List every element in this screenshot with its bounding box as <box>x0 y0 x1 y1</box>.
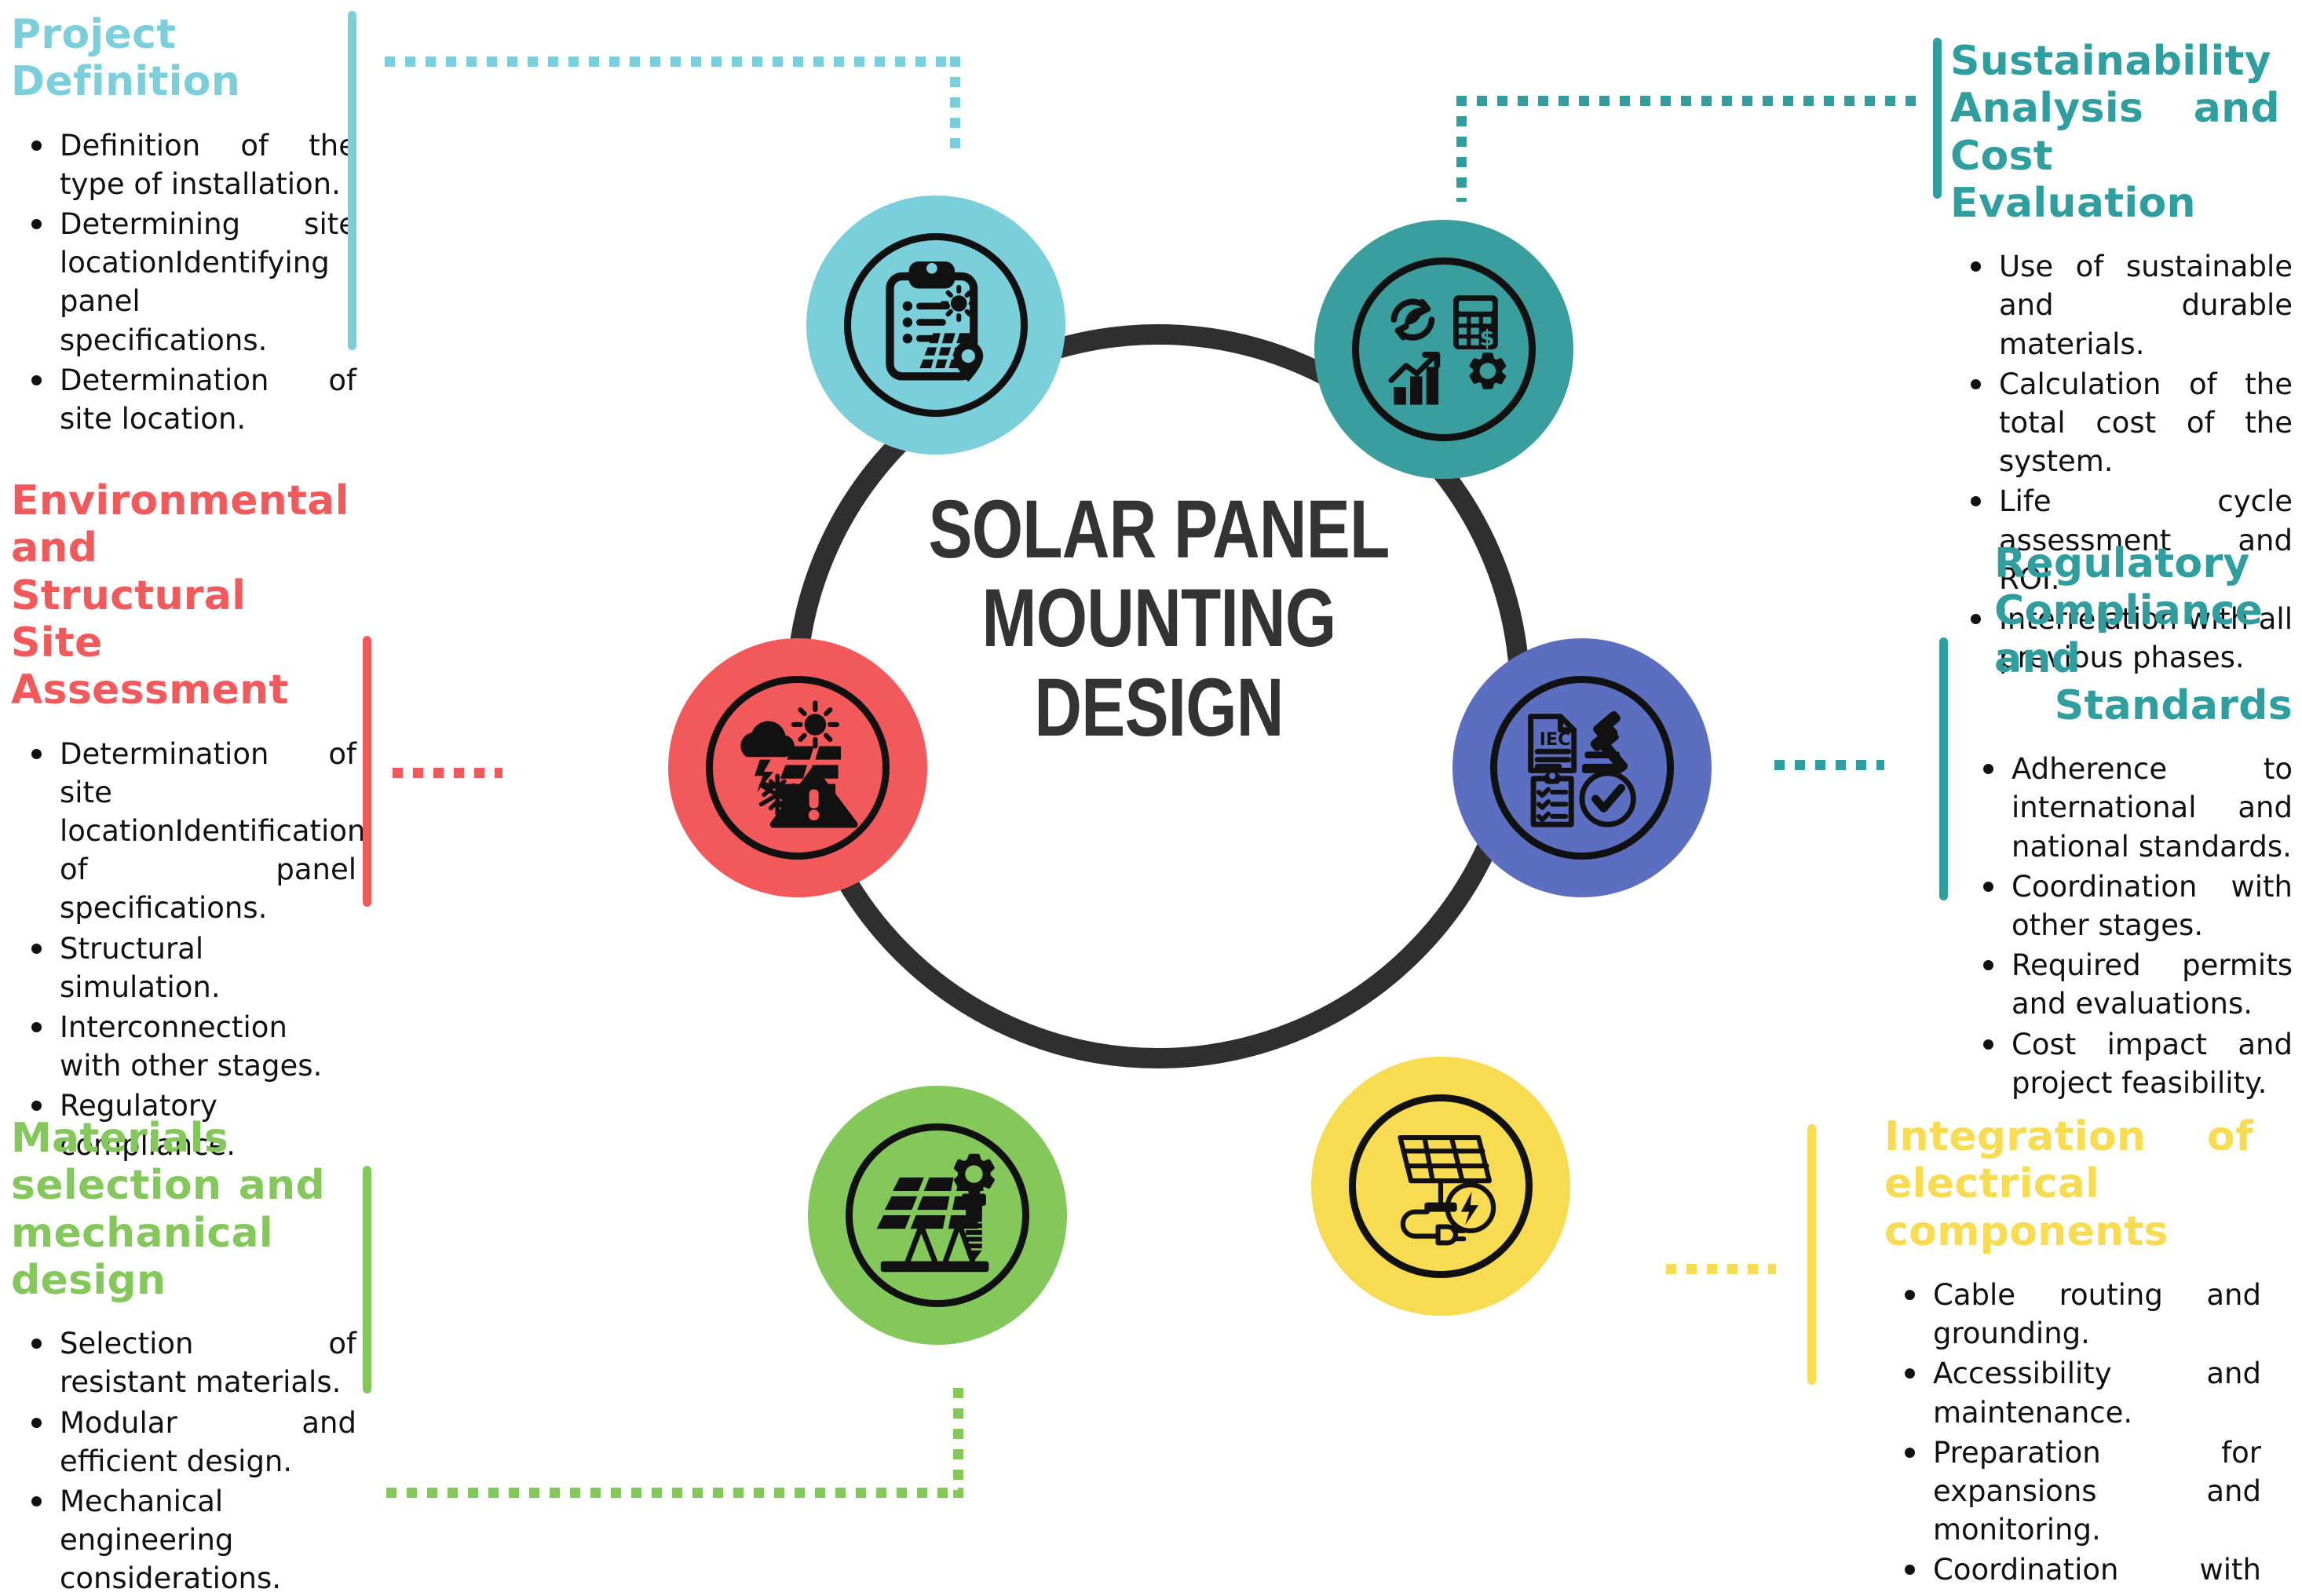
accent-bar-materials-mechanical <box>363 1166 371 1393</box>
list-item: Coordination with other stages. <box>1963 867 2293 944</box>
connector-materials-horizontal <box>386 1488 963 1498</box>
connector-sustainability-horizontal <box>1456 96 1921 106</box>
list-item: Modular and efficient design. <box>11 1404 356 1481</box>
svg-text:$: $ <box>1479 326 1494 351</box>
bullet-list-project-definition: Definition of the type of installation. … <box>11 126 356 439</box>
process-wheel: SOLAR PANEL MOUNTING DESIGN <box>664 203 1652 1190</box>
icon-ring <box>844 233 1028 417</box>
icon-ring <box>1349 1094 1533 1278</box>
list-item: Interconnection with other stages. <box>11 1008 356 1085</box>
list-item: Accessibility and maintenance. <box>1884 1354 2261 1431</box>
bullet-list-regulatory-compliance: Adherence to international and national … <box>1963 750 2293 1102</box>
icon-ring <box>706 676 890 860</box>
panel-title-regulatory-compliance: Regulatory Compliance and Standards <box>1994 540 2293 729</box>
list-item: Structural simulation. <box>11 929 356 1006</box>
connector-sustainability-vertical <box>1456 96 1467 202</box>
bullet-list-materials-mechanical: Selection of resistant materials. Modula… <box>11 1324 356 1596</box>
list-item: Mechanical engineering considerations. <box>11 1482 356 1596</box>
center-title-line2: MOUNTING <box>920 574 1398 663</box>
list-item: Determination of site locationIdentifica… <box>11 735 356 928</box>
panel-title-electrical-integration: Integration of electrical components <box>1884 1113 2253 1255</box>
panel-title-materials-mechanical: Materials selection and mechanical desig… <box>11 1115 325 1304</box>
icon-ring: $ <box>1352 257 1536 441</box>
weather-hazard-panel-icon <box>730 700 865 835</box>
panel-title-environmental-structural: Environmental and Structural Site Assess… <box>11 477 325 714</box>
list-item: Calculation of the total cost of the sys… <box>1950 365 2293 481</box>
list-item: Cable routing and grounding. <box>1884 1276 2261 1353</box>
panel-title-project-definition: Project Definition <box>11 11 207 106</box>
list-item: Adherence to international and national … <box>1963 750 2293 866</box>
node-project-definition[interactable] <box>806 195 1065 455</box>
icon-ring <box>846 1123 1029 1307</box>
bullet-list-electrical-integration: Cable routing and grounding. Accessibili… <box>1884 1276 2293 1596</box>
accent-bar-electrical-integration <box>1807 1124 1816 1385</box>
list-item: Use of sustainable and durable materials… <box>1950 247 2293 363</box>
solar-plug-bolt-icon <box>1373 1119 1508 1254</box>
list-item: Determination of site location. <box>11 361 356 438</box>
list-item: Required permits and evaluations. <box>1963 946 2293 1023</box>
connector-materials-vertical <box>953 1388 963 1498</box>
svg-text:IEC: IEC <box>1540 729 1571 750</box>
panel-materials-mechanical: Materials selection and mechanical desig… <box>11 1115 356 1596</box>
accent-bar-environmental-structural <box>363 636 371 907</box>
icon-ring: IEC <box>1490 676 1674 860</box>
list-item: Coordination with other phases. <box>1884 1550 2261 1596</box>
connector-regulatory-compliance <box>1774 760 1884 770</box>
bullet-list-environmental-structural: Determination of site locationIdentifica… <box>11 735 356 1164</box>
list-item: Selection of resistant materials. <box>11 1324 356 1401</box>
center-title-line3: DESIGN <box>920 663 1398 752</box>
panel-regulatory-compliance: Regulatory Compliance and Standards Adhe… <box>1963 540 2293 1104</box>
list-item: Preparation for expansions and monitorin… <box>1884 1433 2261 1550</box>
clipboard-solar-location-icon <box>868 257 1003 393</box>
list-item: Determining site locationIdentifying pan… <box>11 205 356 360</box>
panel-title-sustainability-cost: Sustainability Analysis and Cost Evaluat… <box>1950 38 2280 227</box>
infographic-canvas: Project Definition Definition of the typ… <box>0 0 2302 1596</box>
list-item: Definition of the type of installation. <box>11 126 356 203</box>
panel-electrical-integration: Integration of electrical components Cab… <box>1884 1113 2293 1596</box>
connector-project-definition-vertical <box>950 57 960 155</box>
center-title-line1: SOLAR PANEL <box>920 485 1398 574</box>
accent-bar-project-definition <box>348 11 356 350</box>
node-regulatory-compliance[interactable]: IEC <box>1452 638 1712 897</box>
node-electrical-integration[interactable] <box>1311 1057 1570 1316</box>
panel-environmental-structural: Environmental and Structural Site Assess… <box>11 477 356 1166</box>
connector-environmental-structural <box>393 768 502 778</box>
node-sustainability-cost[interactable]: $ <box>1314 220 1573 479</box>
node-materials-mechanical[interactable] <box>808 1086 1067 1345</box>
panel-project-definition: Project Definition Definition of the typ… <box>11 11 356 440</box>
sustainability-cost-icon: $ <box>1376 282 1511 417</box>
center-title: SOLAR PANEL MOUNTING DESIGN <box>920 485 1398 752</box>
accent-bar-regulatory-compliance <box>1939 637 1948 900</box>
iec-gavel-checklist-icon: IEC <box>1515 700 1650 835</box>
accent-bar-sustainability-cost <box>1933 38 1942 199</box>
solar-mount-gear-bolt-icon <box>870 1148 1005 1283</box>
connector-project-definition-horizontal <box>385 57 960 67</box>
connector-electrical-integration <box>1666 1264 1776 1274</box>
list-item: Cost impact and project feasibility. <box>1963 1025 2293 1102</box>
node-environmental-structural[interactable] <box>668 638 927 897</box>
